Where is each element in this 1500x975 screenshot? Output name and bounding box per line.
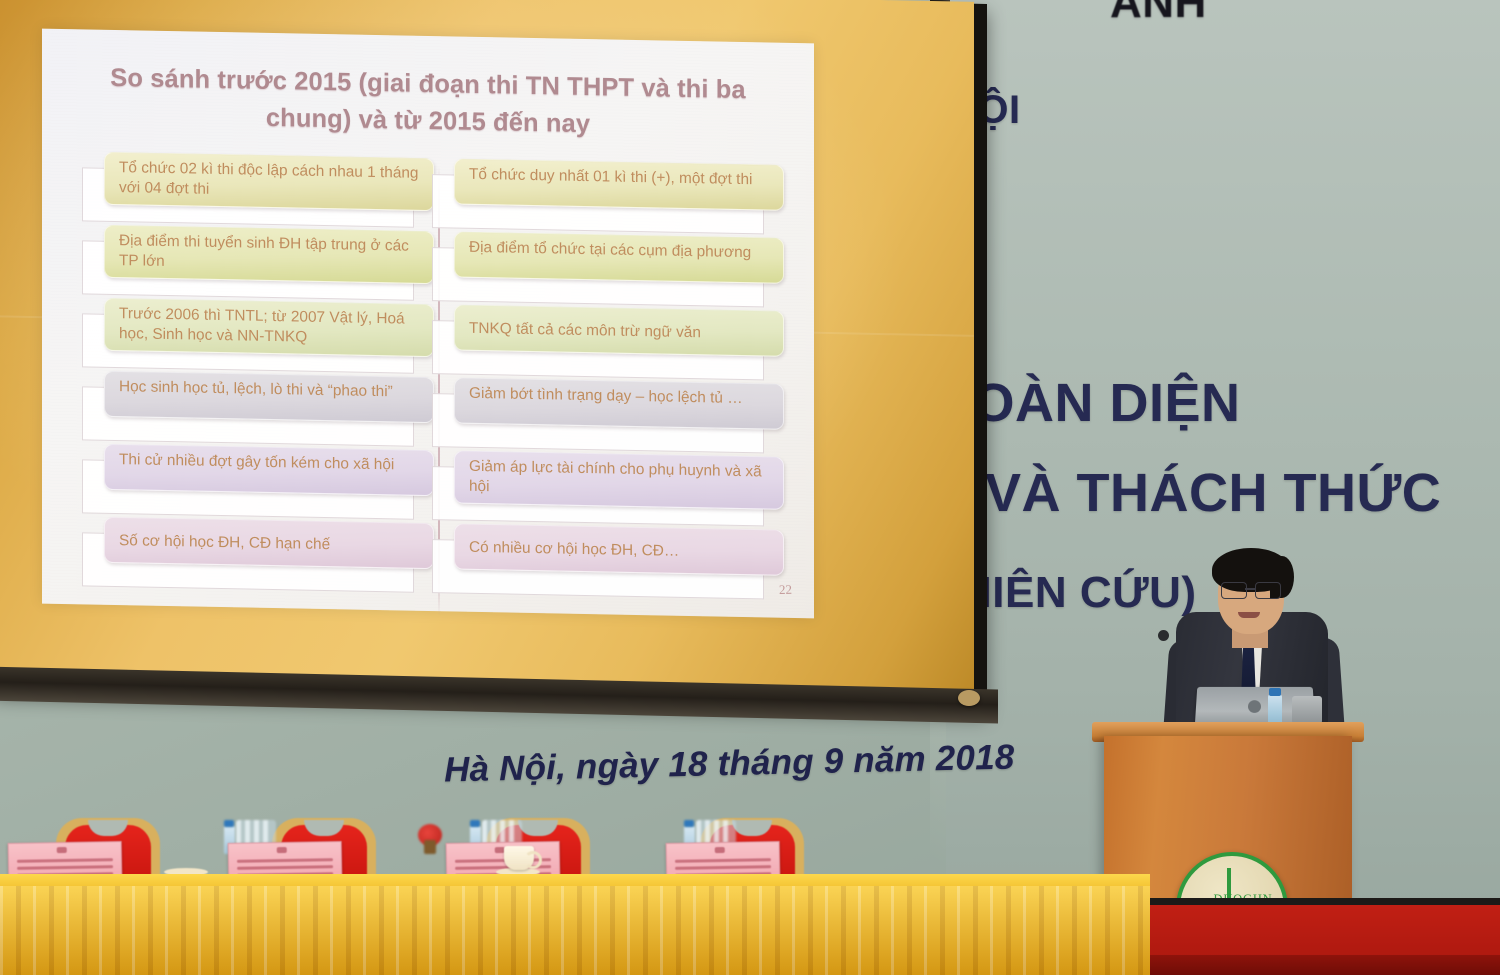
cell-pill-right: Địa điểm tổ chức tại các cụm địa phương	[454, 231, 784, 283]
cell-pill-left: Học sinh học tủ, lệch, lò thi và “phao t…	[104, 371, 434, 423]
water-bottle-cap	[1269, 688, 1281, 696]
cell-pill-right: Có nhiều cơ hội học ĐH, CĐ…	[454, 523, 784, 575]
comparison-cell-left: Trước 2006 thì TNTL; từ 2007 Vật lý, Hoá…	[104, 298, 442, 377]
cell-pill-left: Tổ chức 02 kì thi độc lập cách nhau 1 th…	[104, 152, 434, 211]
slide-number: 22	[779, 582, 793, 598]
water-bottle-cap	[470, 820, 480, 827]
eyeglasses-icon	[1219, 582, 1283, 597]
comparison-cell-left: Học sinh học tủ, lệch, lò thi và “phao t…	[104, 371, 442, 450]
presentation-slide: So sánh trước 2015 (giai đoạn thi TN THP…	[42, 29, 814, 619]
table-row: Số cơ hội học ĐH, CĐ hạn chế Có nhiều cơ…	[42, 516, 814, 604]
slide-title: So sánh trước 2015 (giai đoạn thi TN THP…	[76, 59, 780, 146]
comparison-cell-left: Địa điểm thi tuyển sinh ĐH tập trung ở c…	[104, 225, 442, 304]
projection-screen-roller	[958, 690, 980, 706]
cell-pill-left: Thi cử nhiều đợt gây tốn kém cho xã hội	[104, 444, 434, 496]
cell-pill-right: Tổ chức duy nhất 01 kì thi (+), một đợt …	[454, 158, 784, 210]
comparison-cell-right: TNKQ tất cả các môn trừ ngữ văn	[454, 304, 792, 383]
banner-line-top-partial: ANH	[1110, 0, 1207, 28]
laptop-logo-icon	[1248, 700, 1261, 713]
comparison-cell-right: Giảm bớt tình trạng dạy – học lệch tủ …	[454, 377, 792, 456]
cell-pill-right: Giảm bớt tình trạng dạy – học lệch tủ …	[454, 377, 784, 429]
comparison-cell-left: Tổ chức 02 kì thi độc lập cách nhau 1 th…	[104, 152, 442, 231]
speaker-mouth	[1238, 612, 1260, 618]
podium-tray	[1292, 696, 1322, 724]
comparison-cell-right: Giảm áp lực tài chính cho phụ huynh và x…	[454, 450, 792, 529]
skirt-shading	[0, 886, 1150, 975]
comparison-table: Tổ chức 02 kì thi độc lập cách nhau 1 th…	[42, 151, 814, 604]
comparison-cell-right: Có nhiều cơ hội học ĐH, CĐ…	[454, 523, 792, 602]
cell-pill-left: Trước 2006 thì TNTL; từ 2007 Vật lý, Hoá…	[104, 298, 434, 357]
microphone-icon	[1158, 630, 1169, 641]
comparison-cell-right: Tổ chức duy nhất 01 kì thi (+), một đợt …	[454, 158, 792, 237]
comparison-cell-left: Số cơ hội học ĐH, CĐ hạn chế	[104, 517, 442, 596]
head-table-skirt	[0, 886, 1150, 975]
banner-line-nghien-cuu: HIÊN CỨU)	[960, 568, 1197, 618]
floor-strip	[1150, 955, 1500, 975]
cell-pill-right: Giảm áp lực tài chính cho phụ huynh và x…	[454, 450, 784, 509]
water-bottle-cap	[684, 820, 694, 827]
flower-vase	[424, 840, 436, 854]
water-bottle-cap	[224, 820, 234, 827]
teacup	[504, 846, 534, 870]
comparison-cell-right: Địa điểm tổ chức tại các cụm địa phương	[454, 231, 792, 310]
comparison-cell-left: Thi cử nhiều đợt gây tốn kém cho xã hội	[104, 444, 442, 523]
cell-pill-left: Số cơ hội học ĐH, CĐ hạn chế	[104, 517, 434, 569]
cell-pill-left: Địa điểm thi tuyển sinh ĐH tập trung ở c…	[104, 225, 434, 284]
banner-line-thach-thuc: U VÀ THÁCH THỨC	[930, 462, 1441, 524]
conference-photo-scene: ANH NỘI C TOÀN DIỆN U VÀ THÁCH THỨC HIÊN…	[0, 0, 1500, 975]
cell-pill-right: TNKQ tất cả các môn trừ ngữ văn	[454, 304, 784, 356]
